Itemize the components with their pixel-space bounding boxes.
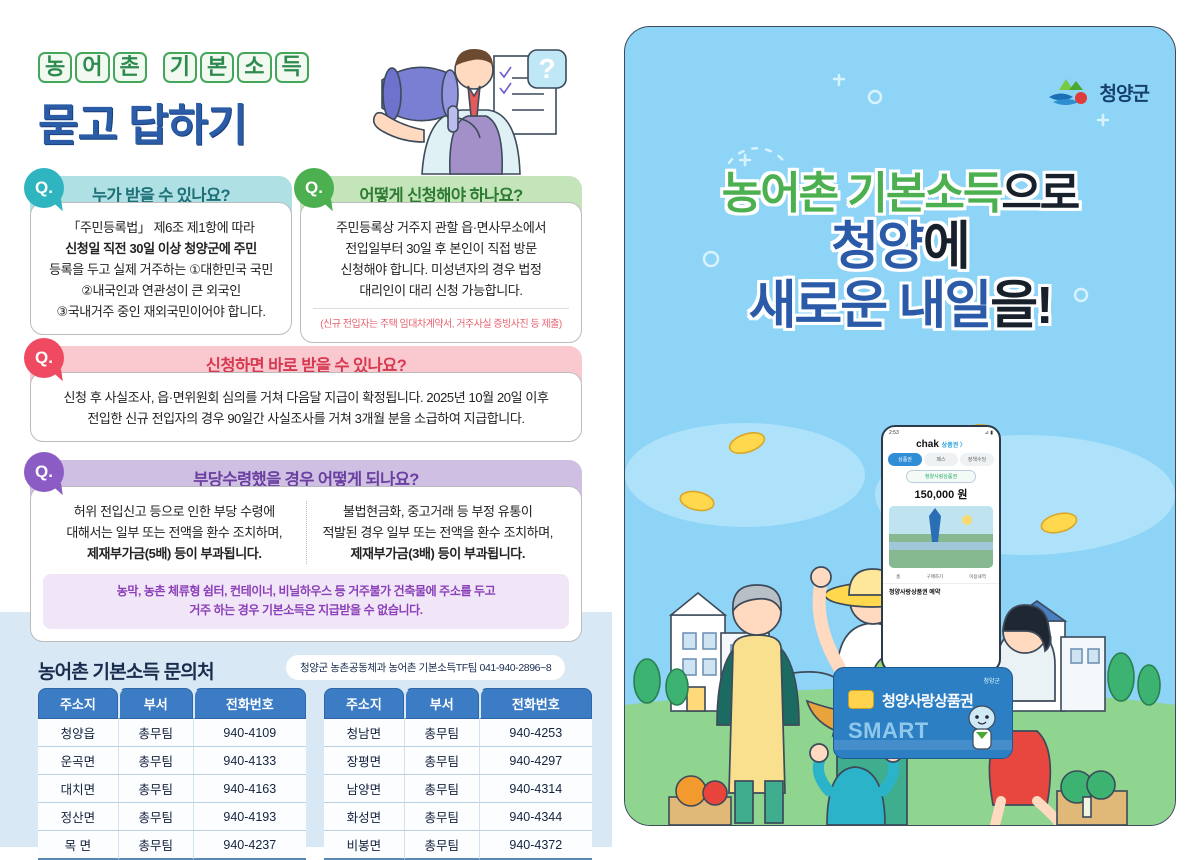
headline-line-3: 새로운 내일을!: [625, 277, 1175, 335]
qa-line: 전입한 신규 전입자의 경우 90일간 사실조사를 거쳐 3개월 분을 소급하여…: [43, 408, 569, 429]
cell-phone: 940-4133: [193, 747, 306, 775]
qa-line: 제재부가금(3배) 등이 부과됩니다.: [313, 543, 564, 564]
table-header-cell: 전화번호: [193, 688, 306, 719]
qa-card-1-body: 「주민등록법」 제6조 제1항에 따라 신청일 직전 30일 이상 청양군에 주…: [30, 202, 292, 335]
table-header-cell: 주소지: [324, 688, 404, 719]
qa-line: 전입일부터 30일 후 본인이 직접 방문: [313, 238, 569, 259]
phone-signal-icon: ⊿ ▮: [985, 430, 993, 436]
cell-dept: 총무팀: [118, 775, 193, 803]
contact-phone-pill: 청양군 농촌공동체과 농어촌 기본소득TF팀 041-940-2896~8: [286, 655, 565, 680]
cell-dept: 총무팀: [118, 747, 193, 775]
table-row: 비봉면총무팀940-4372: [324, 831, 592, 860]
cell-dept: 총무팀: [118, 719, 193, 747]
qa-line: 「주민등록법」 제6조 제1항에 따라: [43, 217, 279, 238]
qa-line: 신청해야 합니다. 미성년자의 경우 법정: [313, 259, 569, 280]
title-tag-char-5: 소: [237, 52, 271, 83]
contact-table-left: 주소지 부서 전화번호 청양읍총무팀940-4109 운곡면총무팀940-413…: [38, 688, 306, 860]
table-row: 청양읍총무팀940-4109: [38, 719, 306, 747]
logo-mark-icon: [1047, 75, 1093, 109]
headline-blue-3: 새로운 내일: [749, 277, 991, 335]
title-tag-row: 농 어 촌 기 본 소 득: [38, 52, 309, 83]
table-row: 화성면총무팀940-4344: [324, 803, 592, 831]
card-name: 청양사랑상품권: [882, 690, 973, 711]
table-row: 대치면총무팀940-4163: [38, 775, 306, 803]
shortcut-buy[interactable]: 구매하기: [926, 574, 943, 580]
cell-dept: 총무팀: [404, 719, 479, 747]
qa-two-column: 허위 전입신고 등으로 인한 부당 수령에 대해서는 일부 또는 전액을 환수 …: [43, 501, 569, 564]
phone-time: 2:53: [889, 430, 899, 436]
qa-line: 신청일 직전 30일 이상 청양군에 주민: [43, 238, 279, 259]
qa-line: 불법현금화, 중고거래 등 부정 유통이: [313, 501, 564, 522]
right-panel: 청양군 농어촌 기본소득으로 청양에 새로운 내일을!: [624, 26, 1176, 826]
cell-location: 비봉면: [324, 831, 404, 860]
qa-card-4: Q. 부당수령했을 경우 어떻게 되나요? 허위 전입신고 등으로 인한 부당 …: [30, 460, 582, 642]
cell-location: 대치면: [38, 775, 118, 803]
contact-tables: 주소지 부서 전화번호 청양읍총무팀940-4109 운곡면총무팀940-413…: [38, 688, 592, 860]
qa-card-1: Q. 누가 받을 수 있나요? 「주민등록법」 제6조 제1항에 따라 신청일 …: [30, 176, 292, 335]
qa-line: 제재부가금(5배) 등이 부과됩니다.: [49, 543, 300, 564]
cell-phone: 940-4163: [193, 775, 306, 803]
cheongyang-logo: 청양군: [1047, 75, 1149, 109]
qa-line: 등록을 두고 실제 거주하는 ①대한민국 국민: [43, 259, 279, 280]
svg-text:?: ?: [538, 53, 555, 84]
table-header-cell: 주소지: [38, 688, 118, 719]
cell-phone: 940-4314: [479, 775, 592, 803]
qa-card-4-body: 허위 전입신고 등으로 인한 부당 수령에 대해서는 일부 또는 전액을 환수 …: [30, 486, 582, 642]
headline-dark-3: 을!: [990, 277, 1051, 335]
cell-location: 목 면: [38, 831, 118, 860]
app-brand-sub: 상품권 〉: [942, 443, 966, 449]
headline-dark-2: 에: [923, 218, 969, 276]
cell-dept: 총무팀: [404, 775, 479, 803]
qa-badge-2: Q.: [294, 168, 334, 208]
promo-photo: [889, 506, 993, 568]
shortcut-history[interactable]: 이용내역: [969, 574, 986, 580]
app-brand: chak 상품권 〉: [883, 437, 999, 453]
mascot-icon: [962, 702, 1002, 754]
page-title: 농 어 촌 기 본 소 득 묻고 답하기: [38, 52, 309, 153]
card-logo-text: 청양군: [983, 676, 1000, 685]
phone-mockup: 2:53 ⊿ ▮ chak 상품권 〉 상품권 패스 정책수당 청양사랑상품권 …: [881, 425, 1001, 673]
qa-card-2-body: 주민등록상 거주지 관할 읍·면사무소에서 전입일부터 30일 후 본인이 직접…: [300, 202, 582, 343]
cell-dept: 총무팀: [118, 831, 193, 860]
headline-line-2: 청양에: [625, 218, 1175, 276]
tab-policy-allowance[interactable]: 정책수당: [960, 453, 994, 466]
shortcut-home[interactable]: 홈: [896, 574, 900, 580]
poster-root: 농 어 촌 기 본 소 득 묻고 답하기: [0, 0, 1200, 847]
cell-location: 남양면: [324, 775, 404, 803]
qa-line: 신청 후 사실조사, 읍·면위원회 심의를 거쳐 다음달 지급이 확정됩니다. …: [43, 387, 569, 408]
contact-table-right: 주소지 부서 전화번호 청남면총무팀940-4253 장평면총무팀940-429…: [324, 688, 592, 860]
qa-warning-bar: 농막, 농촌 체류형 쉼터, 컨테이너, 비닐하우스 등 거주불가 건축물에 주…: [43, 574, 569, 628]
contact-section-title: 농어촌 기본소득 문의처: [38, 657, 214, 684]
card-chip-icon: [848, 690, 874, 709]
title-main: 묻고 답하기: [38, 89, 309, 153]
cell-location: 운곡면: [38, 747, 118, 775]
table-row: 정산면총무팀940-4193: [38, 803, 306, 831]
cell-location: 장평면: [324, 747, 404, 775]
title-tag-char-0: 농: [38, 52, 72, 83]
qa-note-2: (신규 전입자는 주택 임대차계약서, 거주사실 증빙사진 등 제출): [313, 308, 569, 330]
phone-status-bar: 2:53 ⊿ ▮: [883, 427, 999, 437]
table-row: 운곡면총무팀940-4133: [38, 747, 306, 775]
headline-line-1: 농어촌 기본소득으로: [625, 169, 1175, 218]
qa-line: 주민등록상 거주지 관할 읍·면사무소에서: [313, 217, 569, 238]
tab-voucher[interactable]: 상품권: [888, 453, 922, 466]
cell-phone: 940-4109: [193, 719, 306, 747]
cell-location: 정산면: [38, 803, 118, 831]
left-column: 농 어 촌 기 본 소 득 묻고 답하기: [0, 0, 612, 847]
qa-line: 허위 전입신고 등으로 인한 부당 수령에: [49, 501, 300, 522]
qa-badge-3: Q.: [24, 338, 64, 378]
table-row: 청남면총무팀940-4253: [324, 719, 592, 747]
gift-card: 청양군 청양사랑상품권 SMART: [833, 667, 1013, 759]
qa-column-right: 불법현금화, 중고거래 등 부정 유통이 적발된 경우 일부 또는 전액을 환수…: [307, 501, 570, 564]
qa-line: ②내국인과 연관성이 큰 외국인: [43, 280, 279, 301]
cell-location: 청남면: [324, 719, 404, 747]
table-row: 장평면총무팀940-4297: [324, 747, 592, 775]
table-header-cell: 전화번호: [479, 688, 592, 719]
qa-badge-1: Q.: [24, 168, 64, 208]
cell-phone: 940-4237: [193, 831, 306, 860]
cell-location: 청양읍: [38, 719, 118, 747]
qa-line: ③국내거주 중인 재외국민이어야 합니다.: [43, 301, 279, 322]
megaphone-illustration: ?: [362, 22, 592, 182]
app-shortcut-row: 홈 구매하기 이용내역: [883, 568, 999, 583]
headline-blue-2: 청양: [831, 218, 923, 276]
title-tag-char-1: 어: [75, 52, 109, 83]
voucher-amount: 150,000 원: [883, 483, 999, 506]
qa-line: 대해서는 일부 또는 전액을 환수 조치하며,: [49, 522, 300, 543]
qa-line: 대리인이 대리 신청 가능합니다.: [313, 280, 569, 301]
table-header-cell: 부서: [404, 688, 479, 719]
headline-green: 농어촌 기본소득: [722, 169, 1002, 218]
cell-dept: 총무팀: [118, 803, 193, 831]
qa-column-left: 허위 전입신고 등으로 인한 부당 수령에 대해서는 일부 또는 전액을 환수 …: [43, 501, 306, 564]
title-tag-char-4: 본: [200, 52, 234, 83]
qa-card-2: Q. 어떻게 신청해야 하나요? 주민등록상 거주지 관할 읍·면사무소에서 전…: [300, 176, 582, 343]
cell-phone: 940-4344: [479, 803, 592, 831]
table-header-cell: 부서: [118, 688, 193, 719]
logo-text: 청양군: [1100, 79, 1149, 106]
warning-line: 거주 하는 경우 기본소득은 지급받을 수 없습니다.: [49, 601, 563, 620]
cell-phone: 940-4297: [479, 747, 592, 775]
title-tag-char-6: 득: [275, 52, 309, 83]
qa-card-3: Q. 신청하면 바로 받을 수 있나요? 신청 후 사실조사, 읍·면위원회 심…: [30, 346, 582, 442]
qa-badge-4: Q.: [24, 452, 64, 492]
voucher-chip: 청양사랑상품권: [906, 470, 976, 483]
cell-dept: 총무팀: [404, 803, 479, 831]
cell-location: 화성면: [324, 803, 404, 831]
app-brand-name: chak: [916, 439, 939, 450]
table-row: 목 면총무팀940-4237: [38, 831, 306, 860]
cell-phone: 940-4193: [193, 803, 306, 831]
qa-line: 적발된 경우 일부 또는 전액을 환수 조치하며,: [313, 522, 564, 543]
warning-line: 농막, 농촌 체류형 쉼터, 컨테이너, 비닐하우스 등 거주불가 건축물에 주…: [49, 582, 563, 601]
voucher-reserve-row[interactable]: 청양사랑상품권 예약: [883, 583, 999, 599]
qa-card-3-body: 신청 후 사실조사, 읍·면위원회 심의를 거쳐 다음달 지급이 확정됩니다. …: [30, 372, 582, 442]
cell-phone: 940-4372: [479, 831, 592, 860]
title-tag-char-3: 기: [163, 52, 197, 83]
title-tag-char-2: 촌: [113, 52, 147, 83]
cell-dept: 총무팀: [404, 747, 479, 775]
headline-dark-1: 으로: [1001, 169, 1078, 218]
cell-phone: 940-4253: [479, 719, 592, 747]
table-row: 남양면총무팀940-4314: [324, 775, 592, 803]
cell-dept: 총무팀: [404, 831, 479, 860]
app-tabs: 상품권 패스 정책수당: [883, 453, 999, 470]
tab-pass[interactable]: 패스: [924, 453, 958, 466]
headline: 농어촌 기본소득으로 청양에 새로운 내일을!: [625, 169, 1175, 335]
